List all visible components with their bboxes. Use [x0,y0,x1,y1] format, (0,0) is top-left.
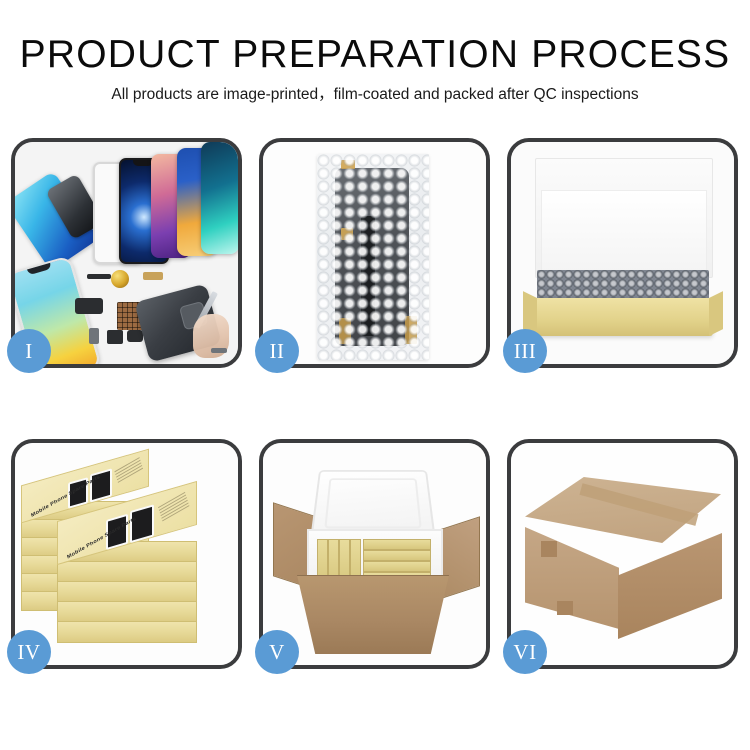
step-photo-3 [511,142,734,364]
sealed-shipping-carton-photo [511,443,734,665]
yellow-box-item [363,550,431,561]
step-panel-3[interactable]: III [507,138,738,368]
step-badge-6: VI [503,630,547,674]
blue-screen-part [15,171,99,271]
step-panel-5[interactable]: V [259,439,490,669]
stacked-box [57,601,197,623]
carton-body [297,575,449,654]
bubble-bag [317,154,429,360]
bubble-texture [317,154,429,360]
stacked-box [57,581,197,603]
bubble-wrap-packing-photo [263,142,486,364]
process-steps-grid: I II [11,138,739,669]
spare-parts-overview-photo [15,142,238,364]
page-subtitle: All products are image-printed，film-coat… [0,84,750,106]
retail-box-stack-photo: Mobile Phone Spare Parts Mobile Phone Sp… [15,443,238,665]
carton-top-face [525,477,721,543]
button-part [89,328,99,344]
yellow-box-item [363,539,431,550]
carton-flap-tab [541,541,557,557]
speaker-part [127,330,143,342]
foam-inner-box-photo [511,142,734,364]
phone-teal [201,142,238,254]
box-window [90,468,112,502]
stacked-box [57,621,197,643]
yellow-box-front [533,298,713,336]
gold-disc-part [111,270,129,288]
step-photo-4: Mobile Phone Spare Parts Mobile Phone Sp… [15,443,238,665]
bar-part [87,274,111,279]
step-badge-2: II [255,329,299,373]
step-photo-6 [511,443,734,665]
foam-cooler-carton-photo [263,443,486,665]
step-photo-2 [263,142,486,364]
gold-connector-part [143,272,163,280]
stacked-box [57,561,197,583]
carton-right-face [618,533,722,639]
foam-sheet [541,190,707,274]
step-badge-4: IV [7,630,51,674]
step-photo-1 [15,142,238,364]
box-spec-lines [114,457,143,485]
step-badge-1: I [7,329,51,373]
box-spec-lines [158,492,190,523]
step-panel-1[interactable]: I [11,138,242,368]
step-panel-2[interactable]: II [259,138,490,368]
step-panel-6[interactable]: VI [507,439,738,669]
flex-cable-part [75,298,103,314]
camera-part [107,330,123,344]
screw-part [211,348,227,353]
step-photo-5 [263,443,486,665]
carton-flap-tab [557,601,573,615]
yellow-box-item [363,561,431,572]
step-badge-3: III [503,329,547,373]
page-title: PRODUCT PREPARATION PROCESS [0,34,750,76]
step-badge-5: V [255,630,299,674]
box-window [130,504,154,543]
step-panel-4[interactable]: Mobile Phone Spare Parts Mobile Phone Sp… [11,439,242,669]
page-header: PRODUCT PREPARATION PROCESS All products… [0,0,750,106]
